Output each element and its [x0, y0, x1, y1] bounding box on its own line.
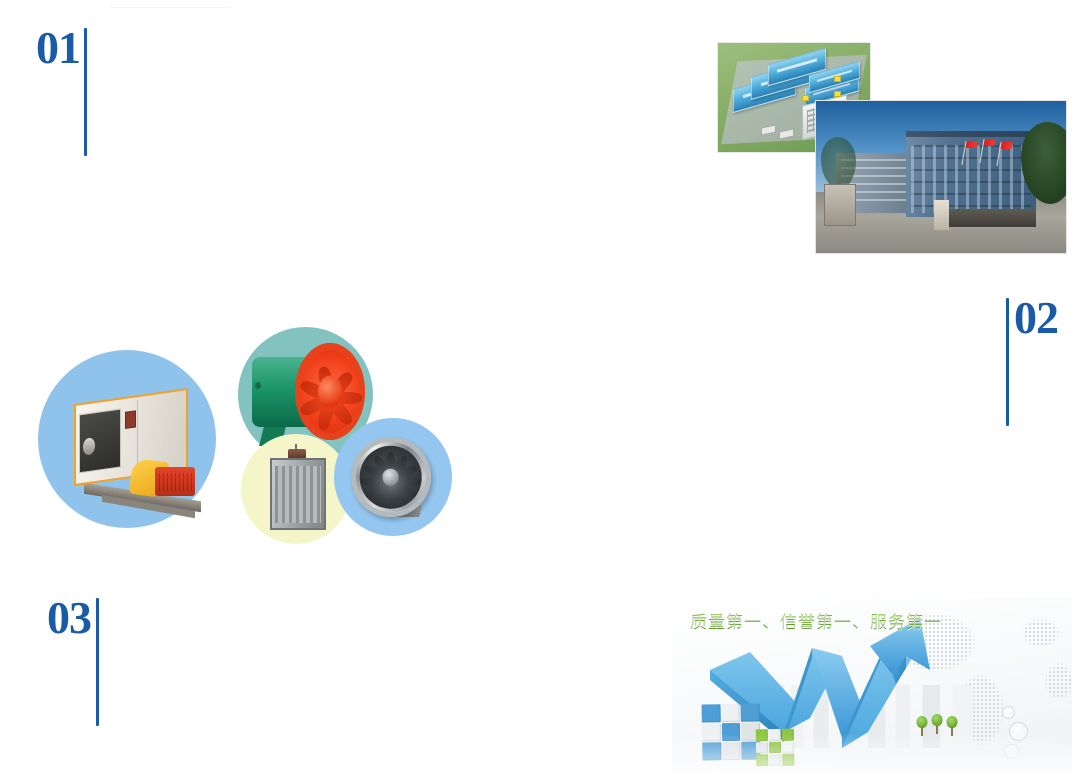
fire-damper-frame	[270, 458, 327, 530]
bubble-icon-1	[1002, 706, 1015, 719]
tree-icon-2	[931, 714, 943, 734]
office-gatehouse	[824, 184, 856, 226]
section-number-01: 01	[36, 26, 80, 70]
office-gate-pillar	[934, 200, 949, 230]
section-marker-03: 03	[47, 596, 99, 726]
page-canvas: 01 02 03	[0, 0, 1074, 772]
office-flag-1	[965, 141, 977, 148]
section-number-02: 02	[1014, 296, 1058, 340]
cabinet-fan-inlet-opening	[79, 409, 121, 473]
product-circle-cluster	[34, 318, 424, 550]
cabinet-fan-motor	[155, 467, 194, 495]
banner-slogan: 质量第一、信誉第一、服务第一	[690, 608, 942, 633]
axial-fan-impeller-ring	[295, 343, 365, 440]
cabinet-fan-control-box	[124, 410, 136, 429]
factory-marker-a	[834, 76, 841, 82]
office-flag-2	[983, 139, 995, 146]
office-flag-3	[1000, 142, 1012, 149]
turbo-fan-rotor	[359, 446, 422, 509]
tree-icon-3	[946, 716, 958, 736]
blue-cube-icon	[702, 703, 761, 760]
green-cube-icon	[756, 729, 795, 767]
factory-marker-c	[802, 95, 809, 101]
promo-banner: 质量第一、信誉第一、服务第一	[672, 598, 1072, 772]
office-perimeter-wall	[941, 209, 1036, 227]
section-marker-01: 01	[36, 26, 87, 156]
office-building-image	[815, 100, 1067, 254]
section-rule-02	[1006, 298, 1009, 426]
section-number-03: 03	[47, 596, 91, 640]
section-marker-02: 02	[1006, 296, 1058, 426]
product-turbo-fan	[334, 418, 452, 536]
section-rule-01	[84, 28, 87, 156]
product-cabinet-fan	[38, 350, 216, 528]
section-rule-03	[96, 598, 99, 726]
top-hairline-divider	[110, 7, 230, 8]
turbo-fan-shroud	[351, 437, 431, 517]
tree-icon-1	[916, 716, 928, 736]
axial-fan-hub	[318, 375, 342, 408]
factory-marker-b	[834, 91, 841, 97]
bubble-icon-2	[1009, 722, 1028, 741]
bubble-icon-3	[1004, 744, 1019, 759]
cabinet-fan-impeller	[83, 437, 95, 456]
